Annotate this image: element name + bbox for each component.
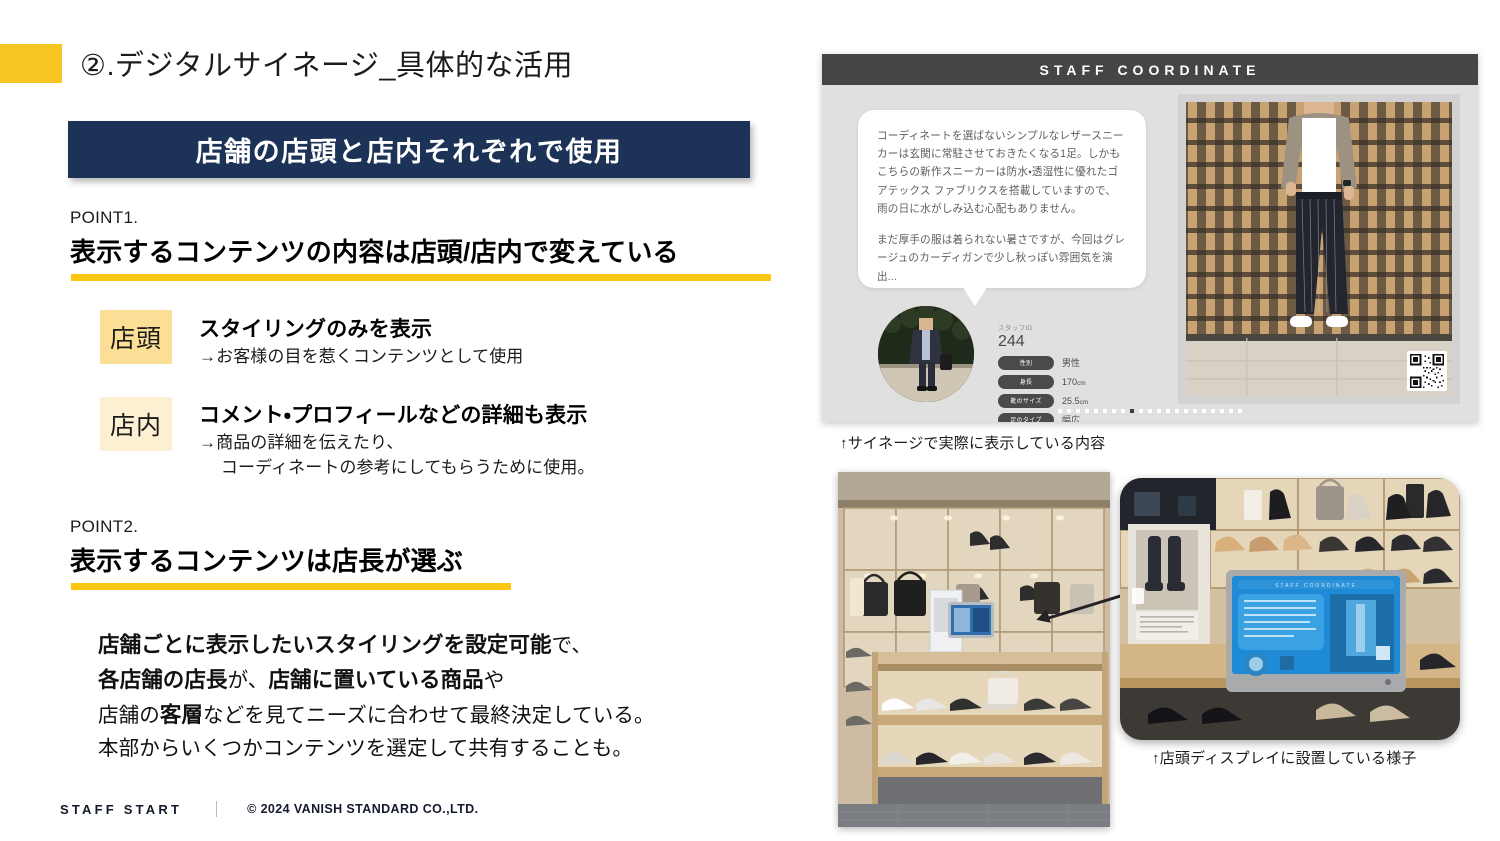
profile-attr-value-gender-text: 男性 bbox=[1062, 358, 1080, 368]
section-banner: 店舗の店頭と店内それぞれで使用 bbox=[68, 121, 750, 178]
point2-body-line-1: 店舗ごとに表示したいスタイリングを設定可能で、 bbox=[98, 628, 798, 663]
pagination-dot[interactable] bbox=[1103, 409, 1107, 413]
svg-text:STAFF COORDINATE: STAFF COORDINATE bbox=[1275, 583, 1357, 589]
profile-attr-label-gender: 性別 bbox=[998, 356, 1054, 370]
photo-store-shelves-illustration bbox=[838, 472, 1110, 827]
pagination-dot[interactable] bbox=[1238, 409, 1242, 413]
avatar-illustration bbox=[878, 306, 974, 402]
point2-body-line-1-tail: で、 bbox=[552, 634, 592, 657]
pagination-dot[interactable] bbox=[1067, 409, 1071, 413]
pagination-dot[interactable] bbox=[1202, 409, 1206, 413]
tag-box-storefront-label: 店頭 bbox=[110, 319, 162, 355]
profile-attr-label-height: 身長 bbox=[998, 375, 1054, 389]
point2-heading: 表示するコンテンツは店長が選ぶ bbox=[70, 541, 463, 578]
tag-box-instore-label: 店内 bbox=[110, 406, 162, 442]
profile-attr-label-shoesize: 靴のサイズ bbox=[998, 394, 1054, 408]
row1-sub: →お客様の目を惹くコンテンツとして使用 bbox=[199, 345, 523, 370]
profile-attr-value-height-text: 170 bbox=[1062, 377, 1077, 387]
pagination-dot[interactable] bbox=[1139, 409, 1143, 413]
point2-body: 店舗ごとに表示したいスタイリングを設定可能で、 各店舗の店長が、店舗に置いている… bbox=[98, 628, 798, 766]
point1-heading: 表示するコンテンツの内容は店頭/店内で変えている bbox=[70, 232, 679, 269]
pagination-dot[interactable] bbox=[1112, 409, 1116, 413]
pagination-dot[interactable] bbox=[1094, 409, 1098, 413]
point2-body-line-2-bold-b: 店舗に置いている商品 bbox=[268, 668, 483, 692]
section-banner-label: 店舗の店頭と店内それぞれで使用 bbox=[196, 130, 623, 169]
pagination-dot[interactable] bbox=[1175, 409, 1179, 413]
profile-attr-value-height: 170cm bbox=[1062, 377, 1086, 387]
pagination-dot[interactable] bbox=[1166, 409, 1170, 413]
profile-attr-value-foottype: 幅広 bbox=[1062, 413, 1080, 422]
pagination-dot[interactable] bbox=[1121, 409, 1125, 413]
profile-attr-value-shoesize: 25.5cm bbox=[1062, 396, 1088, 406]
footer: STAFF START © 2024 VANISH STANDARD CO.,L… bbox=[60, 801, 478, 817]
pagination-dot[interactable] bbox=[1076, 409, 1080, 413]
signage-pagination[interactable] bbox=[822, 409, 1478, 413]
point2-body-line-3-tail: などを見てニーズに合わせて最終決定している。 bbox=[203, 704, 655, 727]
profile-attr-value-gender: 男性 bbox=[1062, 356, 1080, 369]
staff-id-number: 244 bbox=[998, 333, 1088, 351]
page-title: ②.デジタルサイネージ_具体的な活用 bbox=[80, 42, 573, 84]
signage-comment-bubble: コーディネートを選ばないシンプルなレザースニーカーは玄関に常駐させておきたくなる… bbox=[858, 110, 1146, 288]
pagination-dot[interactable] bbox=[1058, 409, 1062, 413]
coordinate-photo-frame bbox=[1178, 94, 1460, 404]
point2-body-line-2-bold-a: 各店舗の店長 bbox=[98, 668, 228, 692]
tag-box-storefront: 店頭 bbox=[100, 310, 172, 364]
pagination-dot[interactable] bbox=[1211, 409, 1215, 413]
pagination-dot[interactable] bbox=[1184, 409, 1188, 413]
profile-attr-label-foottype: 足のタイプ bbox=[998, 413, 1054, 422]
qr-code-glyph bbox=[1410, 354, 1444, 388]
point1-label: POINT1. bbox=[70, 208, 138, 228]
profile-attr-value-foottype-text: 幅広 bbox=[1062, 415, 1080, 422]
photo-store-shelves bbox=[838, 472, 1110, 827]
row2-title: コメント・プロフィールなどの詳細も表示 bbox=[199, 399, 588, 429]
profile-attr-unit-shoesize: cm bbox=[1080, 399, 1089, 406]
profile-attribute-row: 足のタイプ 幅広 bbox=[998, 413, 1088, 422]
pagination-dot-active[interactable] bbox=[1130, 409, 1134, 413]
bubble-tail bbox=[962, 286, 988, 306]
tag-box-instore: 店内 bbox=[100, 397, 172, 451]
slide-root: ②.デジタルサイネージ_具体的な活用 店舗の店頭と店内それぞれで使用 POINT… bbox=[0, 0, 1500, 841]
profile-attribute-row: 性別 男性 bbox=[998, 356, 1088, 370]
point2-body-line-2: 各店舗の店長が、店舗に置いている商品や bbox=[98, 663, 798, 698]
point2-label: POINT2. bbox=[70, 517, 138, 537]
title-accent-bar bbox=[0, 44, 62, 83]
point2-body-line-2-tail: や bbox=[484, 669, 505, 692]
point2-body-line-2-mid: が、 bbox=[228, 669, 269, 692]
footer-divider bbox=[216, 801, 217, 817]
point1-underline bbox=[71, 274, 771, 281]
footer-copyright: © 2024 VANISH STANDARD CO.,LTD. bbox=[247, 802, 478, 816]
staff-avatar bbox=[878, 306, 974, 402]
row2-sub: →商品の詳細を伝えたり、 コーディネートの参考にしてもらうために使用。 bbox=[199, 431, 595, 480]
signage-comment-paragraph-2: まだ厚手の服は着られない暑さですが、今回はグレージュのカーディガンで少し秋っぽい… bbox=[877, 231, 1127, 286]
row1-title: スタイリングのみを表示 bbox=[199, 313, 432, 343]
caption-display: ↑店頭ディスプレイに設置している様子 bbox=[1152, 747, 1417, 768]
pagination-dot[interactable] bbox=[1193, 409, 1197, 413]
pagination-dot[interactable] bbox=[1148, 409, 1152, 413]
profile-attr-unit-height: cm bbox=[1077, 380, 1086, 387]
point2-underline bbox=[71, 583, 511, 590]
point2-body-line-3: 店舗の客層などを見てニーズに合わせて最終決定している。 bbox=[98, 698, 798, 733]
caption-signage: ↑サイネージで実際に表示している内容 bbox=[840, 432, 1105, 453]
signage-comment-paragraph-1: コーディネートを選ばないシンプルなレザースニーカーは玄関に常駐させておきたくなる… bbox=[877, 127, 1127, 218]
signage-screen: STAFF COORDINATE コーディネートを選ばないシンプルなレザースニー… bbox=[822, 54, 1478, 422]
footer-brand: STAFF START bbox=[60, 802, 182, 817]
pagination-dot[interactable] bbox=[1229, 409, 1233, 413]
photo-display-closeup-illustration: STAFF COORDINATE bbox=[1120, 478, 1460, 740]
photo-display-closeup: STAFF COORDINATE bbox=[1120, 478, 1460, 740]
staff-id-label: スタッフID bbox=[998, 322, 1088, 332]
point2-body-line-1-bold: 店舗ごとに表示したいスタイリングを設定可能 bbox=[98, 633, 552, 657]
profile-attribute-row: 身長 170cm bbox=[998, 375, 1088, 389]
point2-body-line-4: 本部からいくつかコンテンツを選定して共有することも。 bbox=[98, 732, 798, 765]
staff-profile: スタッフID 244 性別 男性 身長 170cm 靴のサイズ 25.5cm 足… bbox=[998, 322, 1088, 422]
pagination-dot[interactable] bbox=[1085, 409, 1089, 413]
coordinate-photo bbox=[1186, 102, 1452, 396]
profile-attr-value-shoesize-text: 25.5 bbox=[1062, 396, 1080, 406]
signage-header: STAFF COORDINATE bbox=[822, 54, 1478, 85]
profile-attribute-row: 靴のサイズ 25.5cm bbox=[998, 394, 1088, 408]
pagination-dot[interactable] bbox=[1157, 409, 1161, 413]
signage-header-label: STAFF COORDINATE bbox=[1039, 62, 1260, 78]
point2-body-line-3-pre: 店舗の bbox=[98, 704, 160, 727]
point2-body-line-3-bold: 客層 bbox=[160, 703, 203, 727]
pagination-dot[interactable] bbox=[1220, 409, 1224, 413]
qr-code[interactable] bbox=[1407, 351, 1447, 391]
